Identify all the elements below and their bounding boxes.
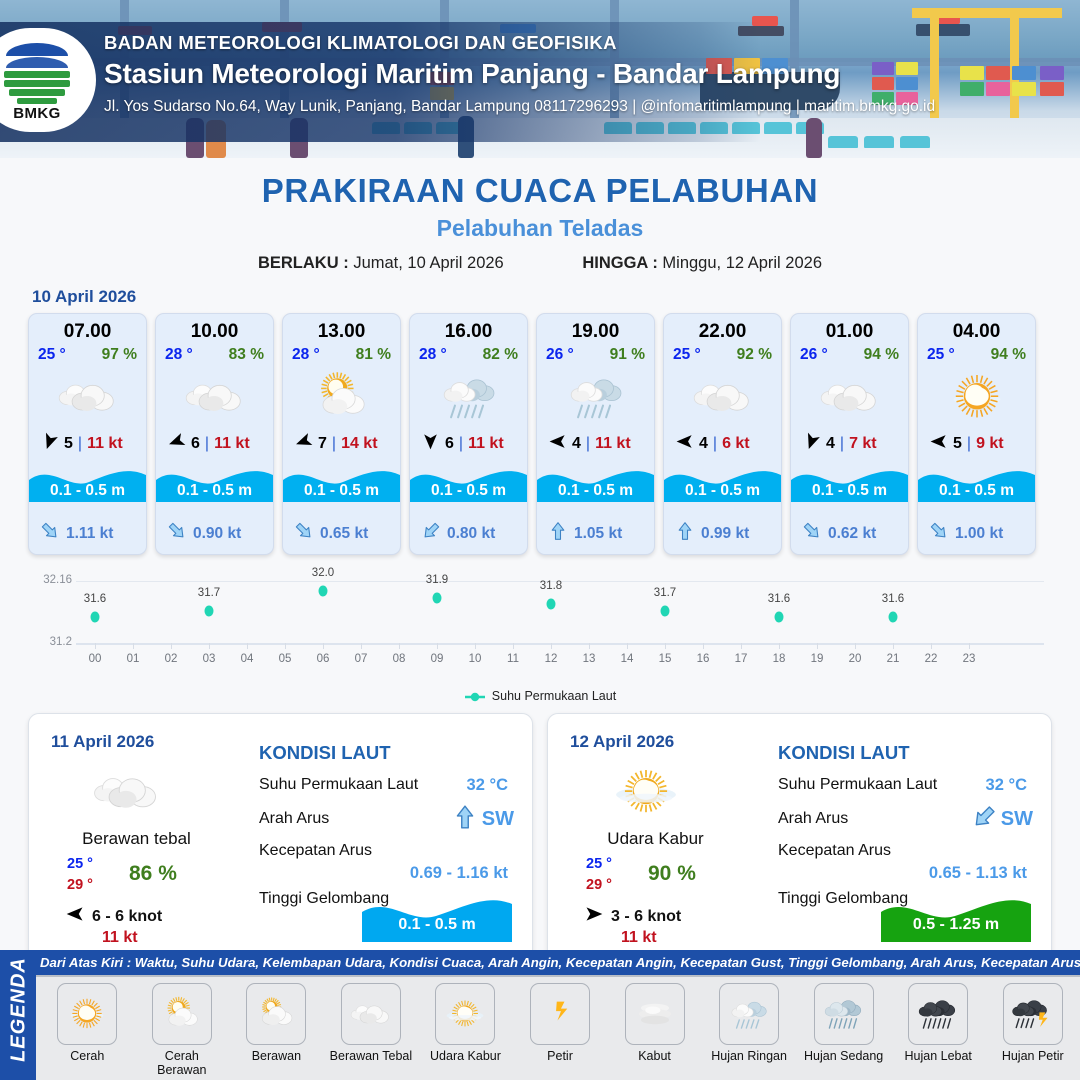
weather-udara-kabur-icon xyxy=(435,983,495,1045)
wind-speed: 4 xyxy=(699,435,708,453)
legend-item: Petir xyxy=(517,983,604,1077)
gust-speed: 14 kt xyxy=(341,435,377,453)
air-temperature: 25 ° xyxy=(38,346,66,364)
daily-humidity: 86 % xyxy=(129,862,177,886)
wave-height: 0.1 - 0.5 m xyxy=(156,482,273,500)
sst-label: Suhu Permukaan Laut xyxy=(778,776,937,794)
current-speed-value: 0.69 - 1.16 kt xyxy=(410,864,508,883)
data-point-label: 31.6 xyxy=(882,593,904,605)
data-point-label: 31.7 xyxy=(654,587,676,599)
weather-cerah-berawan-icon xyxy=(152,983,212,1045)
current-direction-arrow-icon xyxy=(548,521,568,546)
wind-separator: | xyxy=(205,435,209,453)
daily-forecast-panel: 12 April 2026 Udara Kabur 25 ° 29 ° 90 %… xyxy=(547,713,1052,961)
cargo-container xyxy=(960,66,984,80)
data-point-label: 32.0 xyxy=(312,567,334,579)
sea-condition-title: KONDISI LAUT xyxy=(259,742,391,764)
x-tick-label: 02 xyxy=(165,653,178,665)
daily-temperatures: 25 ° 29 ° xyxy=(586,854,612,896)
legend-item-label: Kabut xyxy=(611,1049,698,1063)
wave-height-badge: 0.5 - 1.25 m xyxy=(881,890,1031,942)
weather-udara-kabur-icon xyxy=(600,762,692,822)
humidity: 92 % xyxy=(737,346,772,364)
x-tick-label: 03 xyxy=(203,653,216,665)
data-point xyxy=(319,586,328,597)
x-tick-label: 15 xyxy=(659,653,672,665)
data-point-label: 31.9 xyxy=(426,574,448,586)
validity-range: BERLAKU : Jumat, 10 April 2026 HINGGA : … xyxy=(0,254,1080,273)
x-tick-label: 14 xyxy=(621,653,634,665)
weather-hujan-sedang-icon xyxy=(814,983,874,1045)
weather-berawan-tebal-icon xyxy=(81,762,173,822)
wind-direction-arrow-icon xyxy=(421,432,440,456)
temp-max: 29 ° xyxy=(67,875,93,896)
wind-speed: 5 xyxy=(64,435,73,453)
station-name: Stasiun Meteorologi Maritim Panjang - Ba… xyxy=(104,58,935,90)
wave-height-value: 0.1 - 0.5 m xyxy=(362,916,512,934)
forecast-time: 19.00 xyxy=(537,314,654,343)
x-tick-label: 13 xyxy=(583,653,596,665)
x-tick-label: 21 xyxy=(887,653,900,665)
forecast-time: 22.00 xyxy=(664,314,781,343)
current-direction-arrow-icon xyxy=(452,804,478,835)
x-tick-label: 01 xyxy=(127,653,140,665)
legend-item: Hujan Petir xyxy=(989,983,1076,1077)
forecast-card: 07.00 25 ° 97 % 5 | 11 kt 0.1 - 0.5 m xyxy=(28,313,147,555)
x-tick-label: 20 xyxy=(849,653,862,665)
sst-label: Suhu Permukaan Laut xyxy=(259,776,418,794)
forecast-card: 19.00 26 ° 91 % 4 | 11 kt 0.1 - 0.5 m xyxy=(536,313,655,555)
x-tick-label: 08 xyxy=(393,653,406,665)
gust-speed: 11 kt xyxy=(87,435,123,453)
hourly-forecast-row: 07.00 25 ° 97 % 5 | 11 kt 0.1 - 0.5 m xyxy=(0,313,1080,555)
current-speed: 1.00 kt xyxy=(955,525,1003,543)
waiting-chair xyxy=(900,136,930,148)
valid-until-label: HINGGA : xyxy=(582,254,657,272)
wind-direction-arrow-icon xyxy=(65,904,85,929)
x-tick-label: 00 xyxy=(89,653,102,665)
waiting-chair xyxy=(828,136,858,148)
forecast-card: 10.00 28 ° 83 % 6 | 11 kt 0.1 - 0.5 m xyxy=(155,313,274,555)
x-tick-label: 22 xyxy=(925,653,938,665)
daily-temperatures: 25 ° 29 ° xyxy=(67,854,93,896)
wave-height: 0.1 - 0.5 m xyxy=(918,482,1035,500)
gust-speed: 9 kt xyxy=(976,435,1004,453)
legend-item: Udara Kabur xyxy=(422,983,509,1077)
legend-items: Cerah Cerah Berawan Berawan Berawan Teba… xyxy=(36,977,1080,1077)
page-header: BMKG BADAN METEOROLOGI KLIMATOLOGI DAN G… xyxy=(0,0,1080,158)
temp-min: 25 ° xyxy=(67,854,93,875)
wave-height-band: 0.1 - 0.5 m xyxy=(283,460,400,516)
air-temperature: 26 ° xyxy=(546,346,574,364)
current-speed: 0.90 kt xyxy=(193,525,241,543)
current-direction-arrow-icon xyxy=(421,521,441,546)
data-point-label: 31.7 xyxy=(198,587,220,599)
gust-speed: 11 kt xyxy=(214,435,250,453)
air-temperature: 28 ° xyxy=(292,346,320,364)
wind-direction-arrow-icon xyxy=(40,432,59,456)
legend-sidebar: LEGENDA xyxy=(0,950,34,1080)
current-speed: 0.62 kt xyxy=(828,525,876,543)
current-direction-value-group: SW xyxy=(971,804,1033,835)
current-speed: 1.05 kt xyxy=(574,525,622,543)
current-speed: 0.65 kt xyxy=(320,525,368,543)
weather-berawan-tebal-icon xyxy=(664,364,781,430)
weather-petir-icon xyxy=(530,983,590,1045)
gust-speed: 6 kt xyxy=(722,435,750,453)
wind-direction-arrow-icon xyxy=(802,432,821,456)
sst-value: 32 °C xyxy=(986,776,1027,795)
daily-gust: 11 kt xyxy=(621,929,657,947)
legend-item: Hujan Lebat xyxy=(895,983,982,1077)
humidity: 81 % xyxy=(356,346,391,364)
wind-speed: 4 xyxy=(826,435,835,453)
legend-item: Kabut xyxy=(611,983,698,1077)
current-speed-label: Kecepatan Arus xyxy=(259,842,372,860)
wind-separator: | xyxy=(713,435,717,453)
legend-item-label: Petir xyxy=(517,1049,604,1063)
gust-speed: 11 kt xyxy=(595,435,631,453)
wind-separator: | xyxy=(332,435,336,453)
weather-hujan-ringan-icon xyxy=(719,983,779,1045)
data-point xyxy=(91,612,100,623)
wave-height-band: 0.1 - 0.5 m xyxy=(156,460,273,516)
weather-condition: Berawan tebal xyxy=(29,829,244,849)
port-crane-icon xyxy=(1010,8,1019,118)
wave-height: 0.1 - 0.5 m xyxy=(664,482,781,500)
legend-item-label: Berawan Tebal xyxy=(328,1049,415,1063)
chart-legend: Suhu Permukaan Laut xyxy=(0,689,1080,703)
cargo-container xyxy=(1040,82,1064,96)
gust-speed: 7 kt xyxy=(849,435,877,453)
forecast-card: 13.00 28 ° 81 % 7 | 14 kt 0.1 - 0.5 m xyxy=(282,313,401,555)
page-title: PRAKIRAAN CUACA PELABUHAN xyxy=(0,172,1080,210)
bmkg-logo-text: BMKG xyxy=(0,105,76,122)
data-point-label: 31.6 xyxy=(84,593,106,605)
cargo-container xyxy=(1040,66,1064,80)
forecast-time: 01.00 xyxy=(791,314,908,343)
wave-height: 0.1 - 0.5 m xyxy=(791,482,908,500)
x-tick-label: 17 xyxy=(735,653,748,665)
sst-legend-marker xyxy=(464,691,486,703)
cargo-container xyxy=(1012,66,1036,80)
weather-hujan-ringan-icon xyxy=(537,364,654,430)
legend-item-label: Cerah Berawan xyxy=(139,1049,226,1077)
chart-legend-label: Suhu Permukaan Laut xyxy=(492,689,616,703)
temp-min: 25 ° xyxy=(586,854,612,875)
current-direction-arrow-icon xyxy=(675,521,695,546)
wind-direction-arrow-icon xyxy=(675,432,694,456)
wind-direction-arrow-icon xyxy=(584,904,604,929)
wave-height: 0.1 - 0.5 m xyxy=(283,482,400,500)
forecast-card: 04.00 25 ° 94 % 5 | 9 kt 0.1 - 0.5 m 1.0… xyxy=(917,313,1036,555)
legend-note: Dari Atas Kiri : Waktu, Suhu Udara, Kele… xyxy=(40,955,1076,970)
sea-condition-title: KONDISI LAUT xyxy=(778,742,910,764)
valid-until-value: Minggu, 12 April 2026 xyxy=(662,254,822,272)
legend-item-label: Berawan xyxy=(233,1049,320,1063)
daily-gust: 11 kt xyxy=(102,929,138,947)
current-direction-label: Arah Arus xyxy=(259,810,329,828)
wave-height-band: 0.1 - 0.5 m xyxy=(791,460,908,516)
wind-speed-range: 6 - 6 knot xyxy=(92,908,162,926)
forecast-date-label: 10 April 2026 xyxy=(32,287,1080,307)
wave-height: 0.1 - 0.5 m xyxy=(29,482,146,500)
current-direction-arrow-icon xyxy=(929,521,949,546)
x-tick-label: 09 xyxy=(431,653,444,665)
weather-hujan-ringan-icon xyxy=(410,364,527,430)
agency-name: BADAN METEOROLOGI KLIMATOLOGI DAN GEOFIS… xyxy=(104,32,935,54)
data-point xyxy=(433,592,442,603)
wind-speed: 6 xyxy=(445,435,454,453)
current-direction-label: Arah Arus xyxy=(778,810,848,828)
air-temperature: 28 ° xyxy=(419,346,447,364)
sst-value: 32 °C xyxy=(467,776,508,795)
current-direction-value: SW xyxy=(482,808,514,831)
daily-wind: 6 - 6 knot xyxy=(65,904,162,929)
forecast-time: 07.00 xyxy=(29,314,146,343)
wind-speed-range: 3 - 6 knot xyxy=(611,908,681,926)
air-temperature: 25 ° xyxy=(673,346,701,364)
forecast-card: 22.00 25 ° 92 % 4 | 6 kt 0.1 - 0.5 m xyxy=(663,313,782,555)
forecast-time: 13.00 xyxy=(283,314,400,343)
wind-direction-arrow-icon xyxy=(167,432,186,456)
page-title-block: PRAKIRAAN CUACA PELABUHAN Pelabuhan Tela… xyxy=(0,158,1080,273)
waiting-chair xyxy=(864,136,894,148)
wind-speed: 6 xyxy=(191,435,200,453)
current-direction-arrow-icon xyxy=(40,521,60,546)
current-direction-arrow-icon xyxy=(802,521,822,546)
valid-from-label: BERLAKU : xyxy=(258,254,349,272)
cargo-container xyxy=(986,66,1010,80)
weather-berawan-tebal-icon xyxy=(156,364,273,430)
current-speed-label: Kecepatan Arus xyxy=(778,842,891,860)
humidity: 91 % xyxy=(610,346,645,364)
current-direction-value: SW xyxy=(1001,808,1033,831)
weather-cerah-berawan-icon xyxy=(283,364,400,430)
legend-item: Cerah Berawan xyxy=(139,983,226,1077)
weather-berawan-tebal-icon xyxy=(791,364,908,430)
cargo-container xyxy=(1012,82,1036,96)
weather-berawan-tebal-icon xyxy=(29,364,146,430)
wind-direction-arrow-icon xyxy=(294,432,313,456)
wave-height-band: 0.1 - 0.5 m xyxy=(918,460,1035,516)
humidity: 83 % xyxy=(229,346,264,364)
weather-berawan-icon xyxy=(246,983,306,1045)
humidity: 97 % xyxy=(102,346,137,364)
x-tick-label: 11 xyxy=(507,653,519,665)
wave-height: 0.1 - 0.5 m xyxy=(537,482,654,500)
wind-separator: | xyxy=(967,435,971,453)
wind-separator: | xyxy=(78,435,82,453)
x-tick-label: 04 xyxy=(241,653,254,665)
humidity: 82 % xyxy=(483,346,518,364)
traveler-figure xyxy=(806,118,822,158)
current-direction-arrow-icon xyxy=(294,521,314,546)
x-tick-label: 18 xyxy=(773,653,786,665)
data-point xyxy=(775,612,784,623)
current-speed: 0.80 kt xyxy=(447,525,495,543)
sst-chart: 32.1631.20001020304050607080910111213141… xyxy=(28,571,1052,683)
x-tick-label: 12 xyxy=(545,653,558,665)
wind-speed: 7 xyxy=(318,435,327,453)
current-direction-arrow-icon xyxy=(971,804,997,835)
forecast-time: 04.00 xyxy=(918,314,1035,343)
forecast-card: 16.00 28 ° 82 % 6 | 11 kt 0.1 - 0.5 m xyxy=(409,313,528,555)
legend-panel: Cerah Cerah Berawan Berawan Berawan Teba… xyxy=(36,975,1080,1080)
x-tick-label: 16 xyxy=(697,653,710,665)
humidity: 94 % xyxy=(864,346,899,364)
weather-condition: Udara Kabur xyxy=(548,829,763,849)
port-name: Pelabuhan Teladas xyxy=(0,215,1080,242)
legend-item-label: Hujan Petir xyxy=(989,1049,1076,1063)
waiting-chair xyxy=(764,122,792,134)
daily-date: 12 April 2026 xyxy=(570,732,674,752)
legend-item-label: Hujan Sedang xyxy=(800,1049,887,1063)
humidity: 94 % xyxy=(991,346,1026,364)
legend-item: Berawan xyxy=(233,983,320,1077)
data-point-label: 31.8 xyxy=(540,580,562,592)
legend-section: LEGENDA Dari Atas Kiri : Waktu, Suhu Uda… xyxy=(0,950,1080,1080)
data-point xyxy=(547,599,556,610)
data-point xyxy=(889,612,898,623)
weather-hujan-lebat-icon xyxy=(908,983,968,1045)
wave-height-band: 0.1 - 0.5 m xyxy=(537,460,654,516)
current-speed: 1.11 kt xyxy=(66,525,113,543)
current-speed-value: 0.65 - 1.13 kt xyxy=(929,864,1027,883)
legend-item: Hujan Sedang xyxy=(800,983,887,1077)
x-tick-label: 10 xyxy=(469,653,482,665)
air-temperature: 26 ° xyxy=(800,346,828,364)
cargo-container xyxy=(960,82,984,96)
wind-direction-arrow-icon xyxy=(548,432,567,456)
wind-direction-arrow-icon xyxy=(929,432,948,456)
wind-separator: | xyxy=(840,435,844,453)
wave-height: 0.1 - 0.5 m xyxy=(410,482,527,500)
cargo-container xyxy=(986,82,1010,96)
current-direction-value-group: SW xyxy=(452,804,514,835)
x-tick-label: 19 xyxy=(811,653,824,665)
weather-cerah-icon xyxy=(918,364,1035,430)
weather-hujan-petir-icon xyxy=(1003,983,1063,1045)
daily-wind: 3 - 6 knot xyxy=(584,904,681,929)
wave-height-value: 0.5 - 1.25 m xyxy=(881,916,1031,934)
legend-sidebar-title: LEGENDA xyxy=(8,951,31,1069)
weather-cerah-icon xyxy=(57,983,117,1045)
daily-date: 11 April 2026 xyxy=(51,732,154,752)
wave-height-band: 0.1 - 0.5 m xyxy=(29,460,146,516)
current-speed: 0.99 kt xyxy=(701,525,749,543)
wave-height-band: 0.1 - 0.5 m xyxy=(410,460,527,516)
legend-item-label: Hujan Ringan xyxy=(706,1049,793,1063)
contact-line: Jl. Yos Sudarso No.64, Way Lunik, Panjan… xyxy=(104,98,935,116)
weather-kabut-icon xyxy=(625,983,685,1045)
temp-max: 29 ° xyxy=(586,875,612,896)
data-point xyxy=(205,605,214,616)
forecast-time: 16.00 xyxy=(410,314,527,343)
legend-item: Cerah xyxy=(44,983,131,1077)
data-point-label: 31.6 xyxy=(768,593,790,605)
daily-humidity: 90 % xyxy=(648,862,696,886)
x-tick-label: 05 xyxy=(279,653,292,665)
valid-from-value: Jumat, 10 April 2026 xyxy=(353,254,503,272)
current-direction-arrow-icon xyxy=(167,521,187,546)
wave-height-band: 0.1 - 0.5 m xyxy=(664,460,781,516)
daily-forecast-panel: 11 April 2026 Berawan tebal 25 ° 29 ° 86… xyxy=(28,713,533,961)
wind-speed: 5 xyxy=(953,435,962,453)
forecast-card: 01.00 26 ° 94 % 4 | 7 kt 0.1 - 0.5 m xyxy=(790,313,909,555)
legend-item: Hujan Ringan xyxy=(706,983,793,1077)
x-tick-label: 06 xyxy=(317,653,330,665)
wind-separator: | xyxy=(586,435,590,453)
gust-speed: 11 kt xyxy=(468,435,504,453)
air-temperature: 25 ° xyxy=(927,346,955,364)
legend-item-label: Hujan Lebat xyxy=(895,1049,982,1063)
legend-item-label: Udara Kabur xyxy=(422,1049,509,1063)
data-point xyxy=(661,605,670,616)
x-tick-label: 23 xyxy=(963,653,976,665)
x-tick-label: 07 xyxy=(355,653,368,665)
weather-berawan-tebal-icon xyxy=(341,983,401,1045)
wind-speed: 4 xyxy=(572,435,581,453)
air-temperature: 28 ° xyxy=(165,346,193,364)
daily-forecast-row: 11 April 2026 Berawan tebal 25 ° 29 ° 86… xyxy=(0,713,1080,961)
wind-separator: | xyxy=(459,435,463,453)
legend-item: Berawan Tebal xyxy=(328,983,415,1077)
legend-item-label: Cerah xyxy=(44,1049,131,1063)
wave-height-badge: 0.1 - 0.5 m xyxy=(362,890,512,942)
forecast-time: 10.00 xyxy=(156,314,273,343)
